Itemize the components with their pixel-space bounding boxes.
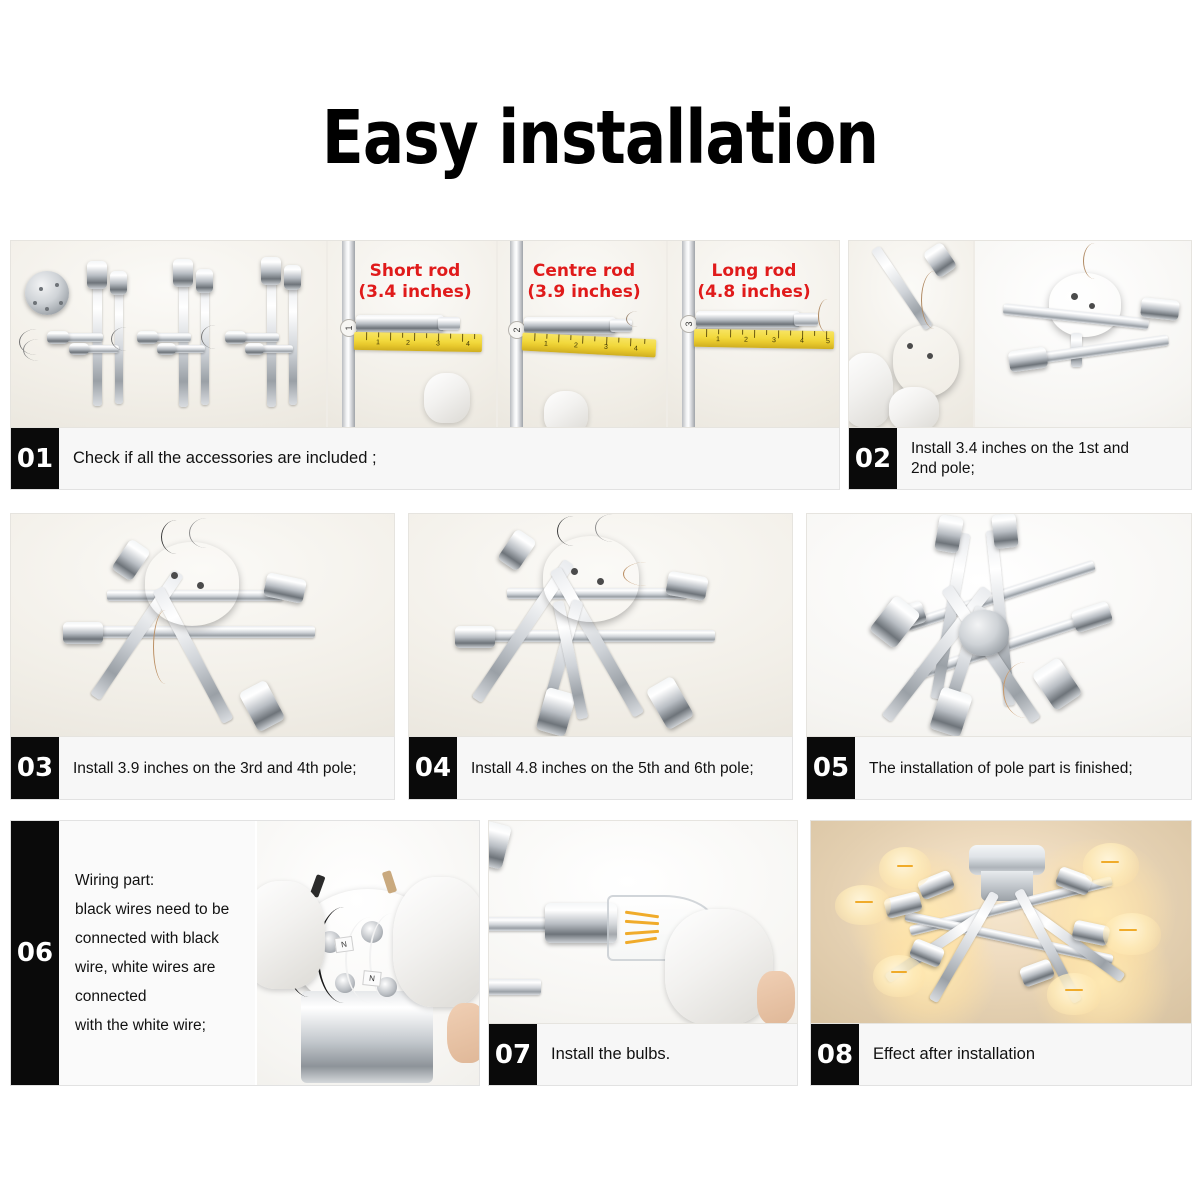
step-05-caption: The installation of pole part is finishe… bbox=[855, 737, 1141, 799]
step-01-photo: 1 1 2 3 4 bbox=[10, 240, 840, 428]
step-01-photo-accessories bbox=[11, 241, 326, 427]
step-04-caption: Install 4.8 inches on the 5th and 6th po… bbox=[457, 737, 762, 799]
step-05-caption-bar: 05 The installation of pole part is fini… bbox=[806, 737, 1192, 800]
step-06-photo: N N bbox=[257, 821, 479, 1085]
step-06-caption: Wiring part: black wires need to be conn… bbox=[59, 821, 255, 1085]
step-01-caption: Check if all the accessories are include… bbox=[59, 428, 385, 489]
step-02-number: 02 bbox=[849, 428, 897, 489]
step-06-number: 06 bbox=[11, 821, 59, 1085]
step-08-caption-bar: 08 Effect after installation bbox=[810, 1024, 1192, 1086]
step-02-photo bbox=[848, 240, 1192, 428]
centre-rod-label: Centre rod (3.9 inches) bbox=[510, 261, 658, 303]
page-title: Easy installation bbox=[48, 95, 1152, 181]
step-01-photo-centre-rod: 2 1 2 3 4 bbox=[498, 241, 666, 427]
step-panel-08: 08 Effect after installation bbox=[810, 820, 1192, 1086]
measuring-tape: 1 2 3 4 5 bbox=[694, 329, 834, 349]
step-panel-01: 1 1 2 3 4 bbox=[10, 240, 840, 490]
step-04-number: 04 bbox=[409, 737, 457, 799]
step-07-number: 07 bbox=[489, 1024, 537, 1085]
step-01-photo-long-rod: 3 1 2 3 4 bbox=[668, 241, 839, 427]
wire-tag-n2: N bbox=[362, 970, 381, 987]
long-rod-label: Long rod (4.8 inches) bbox=[678, 261, 830, 303]
step-05-photo bbox=[806, 513, 1192, 737]
step-02-caption: Install 3.4 inches on the 1st and 2nd po… bbox=[897, 428, 1137, 489]
step-panel-02: 02 Install 3.4 inches on the 1st and 2nd… bbox=[848, 240, 1192, 490]
step-panel-04: 04 Install 4.8 inches on the 5th and 6th… bbox=[408, 513, 793, 800]
wire-tag-n1: N bbox=[334, 936, 354, 953]
step-01-caption-bar: 01 Check if all the accessories are incl… bbox=[10, 428, 840, 490]
step-02-caption-bar: 02 Install 3.4 inches on the 1st and 2nd… bbox=[848, 428, 1192, 490]
step-04-photo bbox=[408, 513, 793, 737]
step-01-number: 01 bbox=[11, 428, 59, 489]
measuring-tape: 1 2 3 4 bbox=[354, 332, 482, 352]
step-panel-06: 06 Wiring part: black wires need to be c… bbox=[10, 820, 480, 1086]
step-panel-03: 03 Install 3.9 inches on the 3rd and 4th… bbox=[10, 513, 395, 800]
step-01-photo-short-rod: 1 1 2 3 4 bbox=[328, 241, 496, 427]
step-panel-07: 07 Install the bulbs. bbox=[488, 820, 798, 1086]
step-04-caption-bar: 04 Install 4.8 inches on the 5th and 6th… bbox=[408, 737, 793, 800]
short-rod-label: Short rod (3.4 inches) bbox=[342, 261, 488, 303]
step-03-caption-bar: 03 Install 3.9 inches on the 3rd and 4th… bbox=[10, 737, 395, 800]
step-07-caption-bar: 07 Install the bulbs. bbox=[488, 1024, 798, 1086]
step-03-number: 03 bbox=[11, 737, 59, 799]
installation-guide-page: Easy installation bbox=[0, 0, 1200, 1200]
step-08-caption: Effect after installation bbox=[859, 1024, 1043, 1085]
step-panel-05: 05 The installation of pole part is fini… bbox=[806, 513, 1192, 800]
step-03-caption: Install 3.9 inches on the 3rd and 4th po… bbox=[59, 737, 365, 799]
step-05-number: 05 bbox=[807, 737, 855, 799]
step-03-photo bbox=[10, 513, 395, 737]
step-08-number: 08 bbox=[811, 1024, 859, 1085]
step-07-caption: Install the bulbs. bbox=[537, 1024, 678, 1085]
step-08-photo bbox=[810, 820, 1192, 1024]
step-07-photo bbox=[488, 820, 798, 1024]
